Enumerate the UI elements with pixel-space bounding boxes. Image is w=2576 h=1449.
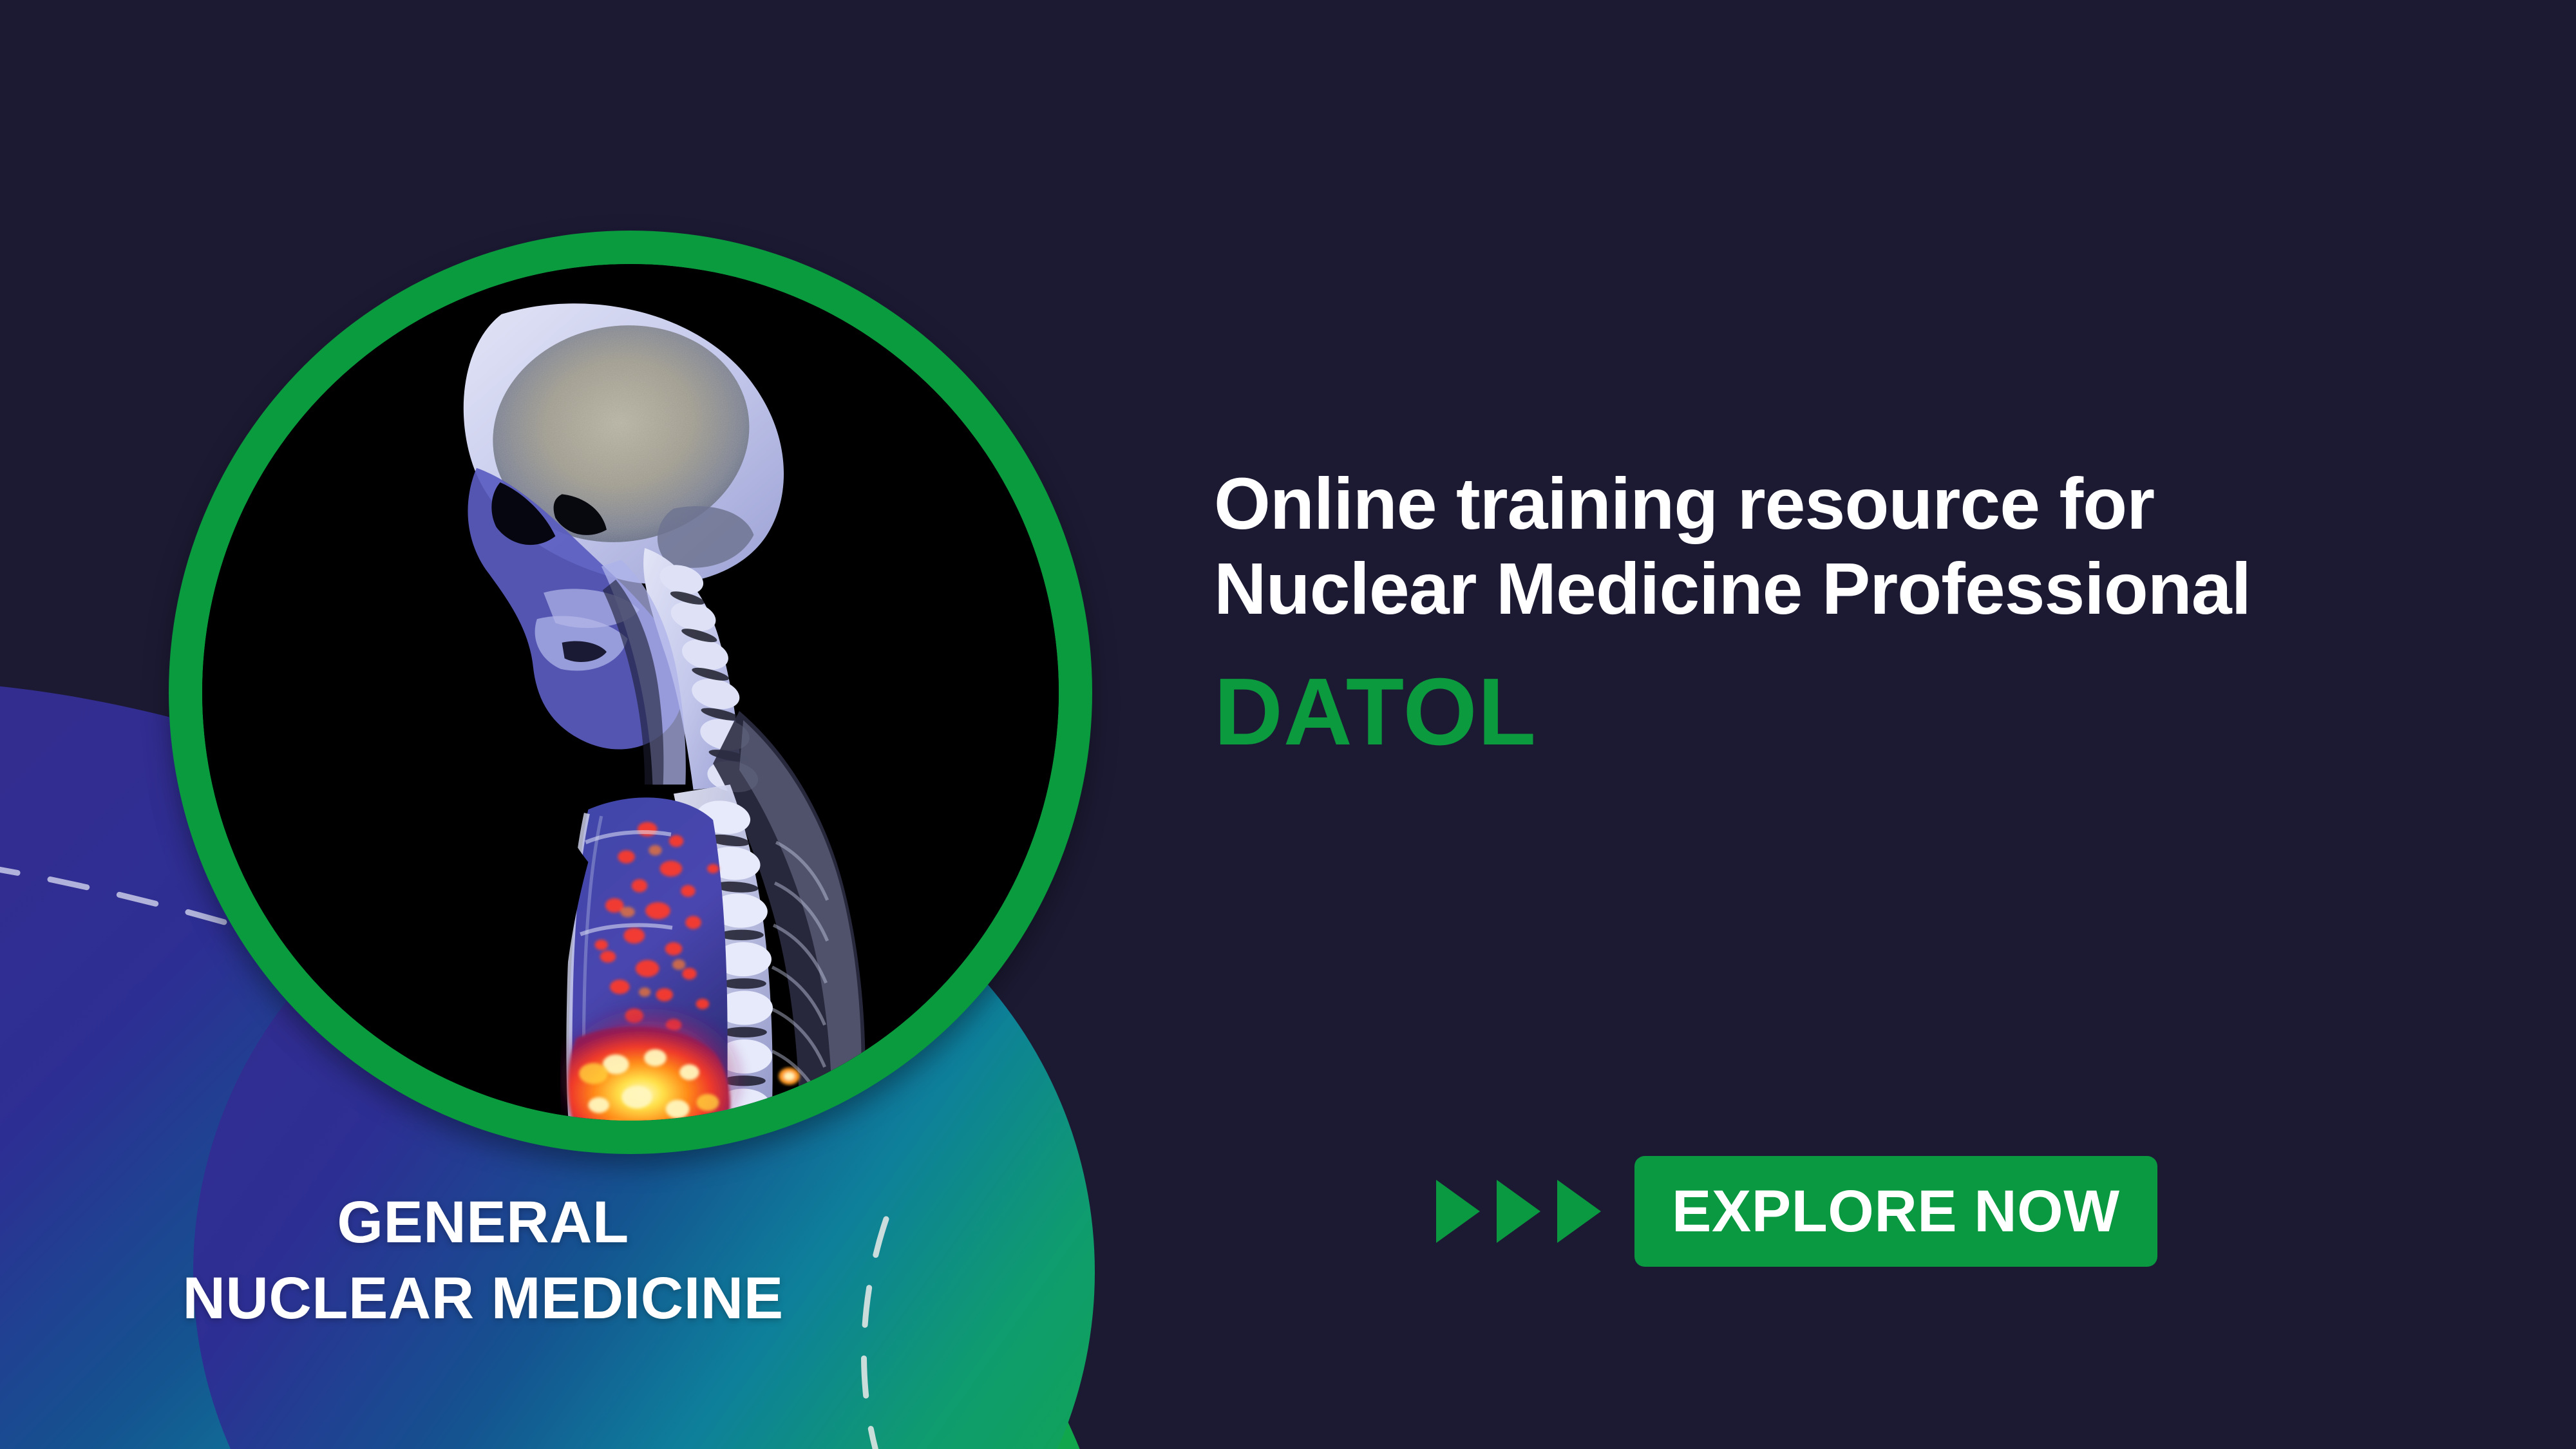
pet-ct-sagittal-scan-image [202, 264, 1059, 1121]
cta-row: EXPLORE NOW [1436, 1156, 2157, 1267]
headline-line-2: Nuclear Medicine Professional [1214, 546, 2438, 631]
arrow-group [1436, 1180, 1601, 1243]
headline: Online training resource for Nuclear Med… [1214, 461, 2438, 631]
pet-uptake-focal-spot [779, 1068, 800, 1085]
pet-ct-medallion [169, 231, 1092, 1154]
medallion-image-frame [202, 264, 1059, 1121]
triangle-right-icon [1497, 1180, 1540, 1243]
headline-line-1: Online training resource for [1214, 461, 2438, 546]
triangle-right-icon [1436, 1180, 1480, 1243]
category-line-2: NUCLEAR MEDICINE [0, 1261, 966, 1337]
explore-now-button[interactable]: EXPLORE NOW [1634, 1156, 2157, 1267]
brand-wordmark: DATOL [1214, 665, 2438, 760]
copy-block: Online training resource for Nuclear Med… [1214, 461, 2438, 760]
triangle-right-icon [1557, 1180, 1601, 1243]
category-line-1: GENERAL [0, 1185, 966, 1261]
promo-banner: GENERAL NUCLEAR MEDICINE Online training… [0, 0, 2576, 1449]
category-label: GENERAL NUCLEAR MEDICINE [0, 1185, 966, 1337]
